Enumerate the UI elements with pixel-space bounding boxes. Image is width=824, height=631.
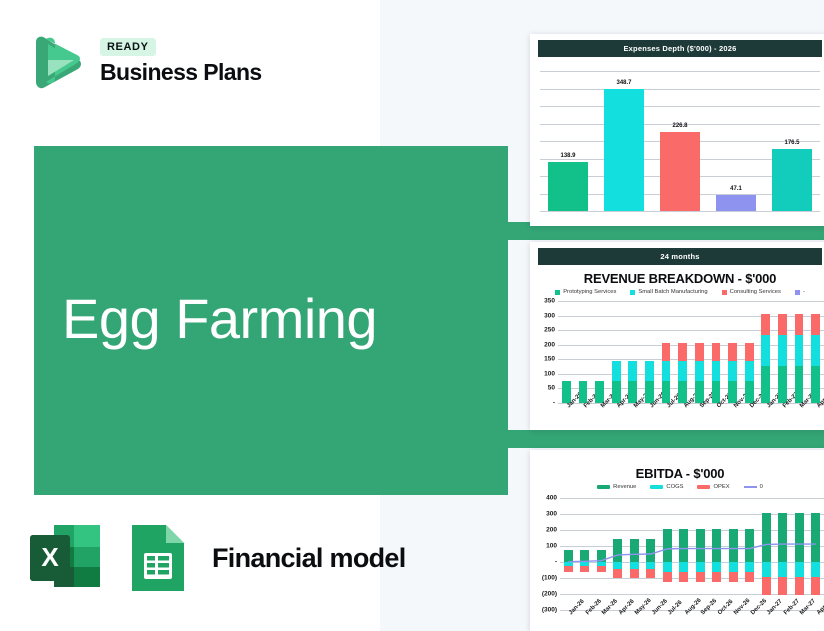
chart-bar-segment: [712, 343, 721, 360]
legend-label: Small Batch Manufacturing: [638, 289, 707, 295]
legend-label: Consulting Services: [730, 289, 781, 295]
legend-item: COGS: [650, 484, 683, 490]
chart-bar-segment: [795, 335, 804, 366]
legend-item: OPEX: [697, 484, 729, 490]
legend-item: Small Batch Manufacturing: [630, 289, 707, 295]
bar-value-label: 176.5: [784, 140, 799, 146]
legend-label: 0: [760, 484, 763, 490]
brand-name: Business Plans: [100, 60, 262, 84]
legend-swatch-icon: [795, 290, 800, 295]
accent-slab-lower: [508, 430, 824, 448]
chart-bar-segment: [761, 335, 770, 366]
y-tick-label: 300: [546, 511, 557, 518]
chart-bar-segment: [712, 381, 721, 403]
legend-label: OPEX: [713, 484, 729, 490]
chart-bar-segment: [745, 381, 754, 403]
chart-bar-segment: [628, 381, 637, 403]
legend-swatch-icon: [597, 485, 610, 489]
gridline: [540, 211, 820, 212]
y-tick-label: 300: [544, 312, 555, 319]
legend-swatch-icon: [697, 485, 710, 489]
chart-bar-segment: [745, 361, 754, 381]
chart-bar-segment: [778, 366, 787, 403]
ready-badge: READY: [100, 38, 156, 56]
legend-label: Revenue: [613, 484, 636, 490]
expenses-chart-title: Expenses Depth ($'000) - 2026: [538, 40, 822, 57]
gridline: [540, 106, 820, 107]
microsoft-excel-icon: X: [30, 521, 106, 595]
brand-logo-text: READY Business Plans: [100, 37, 262, 84]
y-tick-label: 100: [544, 370, 555, 377]
y-tick-label: -: [555, 559, 557, 566]
chart-bar-segment: [662, 381, 671, 403]
play-triangle-logo-icon: [28, 30, 90, 92]
revenue-chart-title: REVENUE BREAKDOWN - $'000: [530, 271, 824, 286]
revenue-months-strip: 24 months: [538, 248, 822, 265]
chart-bar: [548, 162, 587, 211]
svg-text:X: X: [41, 542, 59, 572]
chart-bar-segment: [678, 381, 687, 403]
chart-bar-segment: [662, 361, 671, 381]
y-tick-label: 50: [548, 385, 555, 392]
chart-bar-segment: [579, 381, 588, 403]
brand-logo[interactable]: READY Business Plans: [28, 30, 262, 92]
legend-swatch-icon: [722, 290, 727, 295]
chart-bar-segment: [678, 361, 687, 381]
google-sheets-icon: [128, 521, 188, 595]
chart-bar: [604, 89, 643, 211]
legend-swatch-icon: [744, 486, 757, 488]
page-title: Egg Farming: [62, 288, 377, 350]
financial-model-label: Financial model: [212, 543, 406, 574]
y-tick-label: (200): [542, 591, 557, 598]
legend-item: Revenue: [597, 484, 636, 490]
chart-bar-segment: [761, 314, 770, 335]
chart-card-ebitda[interactable]: EBITDA - $'000 RevenueCOGSOPEX0 40030020…: [530, 450, 824, 631]
gridline: [540, 89, 820, 90]
expenses-plot-area: 138.9348.7226.847.1176.5: [540, 71, 820, 211]
chart-bar: [772, 149, 811, 211]
gridline: [558, 301, 824, 302]
y-tick-label: 200: [546, 527, 557, 534]
chart-bar-segment: [645, 361, 654, 381]
bar-value-label: 47.1: [730, 186, 742, 192]
y-tick-label: 250: [544, 327, 555, 334]
chart-bar-segment: [778, 335, 787, 366]
y-tick-label: 150: [544, 356, 555, 363]
chart-bar-segment: [712, 361, 721, 381]
legend-swatch-icon: [555, 290, 560, 295]
ebitda-zero-line: [560, 498, 824, 610]
slide-canvas: READY Business Plans Egg Farming X: [0, 0, 824, 631]
chart-bar-segment: [745, 343, 754, 360]
legend-item: -: [795, 289, 805, 295]
chart-bar-segment: [728, 361, 737, 381]
chart-bar-segment: [761, 366, 770, 403]
chart-bar-segment: [612, 381, 621, 403]
chart-bar-segment: [695, 361, 704, 381]
ebitda-chart-title: EBITDA - $'000: [530, 466, 824, 481]
financial-model-row: X Financial model: [30, 521, 406, 595]
chart-bar-segment: [695, 343, 704, 360]
legend-item: Consulting Services: [722, 289, 781, 295]
revenue-plot-area: 35030025020015010050-Jan-26Feb-26Mar-26A…: [558, 301, 824, 403]
legend-swatch-icon: [650, 485, 663, 489]
chart-card-expenses[interactable]: Expenses Depth ($'000) - 2026 138.9348.7…: [530, 34, 824, 226]
bar-value-label: 348.7: [616, 80, 631, 86]
chart-card-revenue[interactable]: 24 months REVENUE BREAKDOWN - $'000 Prot…: [530, 242, 824, 430]
ebitda-legend: RevenueCOGSOPEX0: [530, 484, 824, 490]
chart-bar-segment: [811, 335, 820, 366]
legend-item: 0: [744, 484, 763, 490]
chart-bar-segment: [728, 343, 737, 360]
chart-bar-segment: [778, 314, 787, 335]
y-tick-label: (100): [542, 575, 557, 582]
ebitda-plot-area: 400300200100-(100)(200)(300)Jan-26Feb-26…: [560, 498, 824, 610]
legend-label: COGS: [666, 484, 683, 490]
chart-bar-segment: [728, 381, 737, 403]
chart-bar-segment: [795, 366, 804, 403]
chart-bar-segment: [811, 314, 820, 335]
cover-banner: Egg Farming: [34, 146, 508, 495]
legend-label: Prototyping Services: [563, 289, 616, 295]
bar-value-label: 138.9: [560, 153, 575, 159]
y-tick-label: 400: [546, 495, 557, 502]
legend-label: -: [803, 289, 805, 295]
revenue-legend: Prototyping ServicesSmall Batch Manufact…: [530, 289, 824, 295]
legend-swatch-icon: [630, 290, 635, 295]
chart-bar-segment: [811, 366, 820, 403]
bar-value-label: 226.8: [672, 123, 687, 129]
chart-bar: [716, 195, 755, 211]
chart-bar-segment: [628, 361, 637, 381]
y-tick-label: -: [553, 400, 555, 407]
gridline: [540, 71, 820, 72]
chart-bar-segment: [595, 381, 604, 403]
legend-item: Prototyping Services: [555, 289, 616, 295]
y-tick-label: (300): [542, 607, 557, 614]
y-tick-label: 200: [544, 341, 555, 348]
chart-bar-segment: [678, 343, 687, 360]
chart-bar-segment: [612, 361, 621, 381]
y-tick-label: 350: [544, 298, 555, 305]
chart-bar-segment: [662, 343, 671, 360]
chart-bar: [660, 132, 699, 211]
chart-bar-segment: [795, 314, 804, 335]
y-tick-label: 100: [546, 543, 557, 550]
